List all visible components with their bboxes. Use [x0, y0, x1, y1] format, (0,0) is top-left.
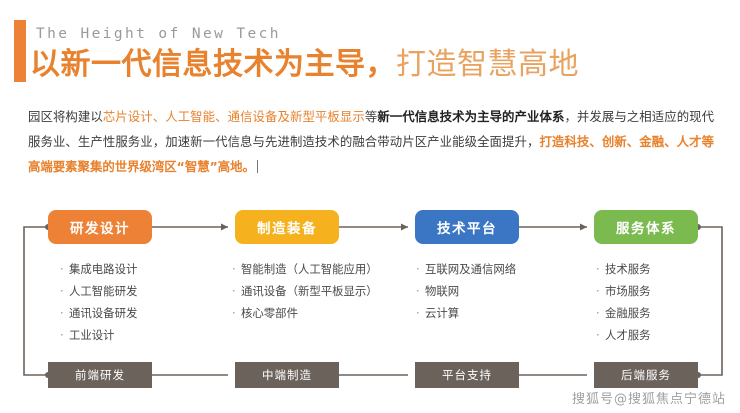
bullet-dot-icon: · — [416, 258, 425, 280]
list-item-label: 工业设计 — [69, 328, 115, 342]
list-item: ·物联网 — [416, 280, 591, 302]
slide-canvas: The Height of New Tech 以新一代信息技术为主导，打造智慧高… — [0, 0, 740, 413]
list-item-label: 互联网及通信网络 — [425, 262, 516, 276]
bullet-dot-icon: · — [416, 302, 425, 324]
connector-left-wrap — [24, 227, 48, 375]
list-item-label: 人才服务 — [605, 328, 651, 342]
list-item: ·通讯设备研发 — [60, 302, 230, 324]
stage-node-platform-support[interactable]: 平台支持 — [415, 362, 519, 388]
list-item: ·互联网及通信网络 — [416, 258, 591, 280]
bullet-list-research: ·集成电路设计 ·人工智能研发 ·通讯设备研发 ·工业设计 — [60, 258, 230, 346]
bullet-dot-icon: · — [60, 324, 69, 346]
list-item-label: 金融服务 — [605, 306, 651, 320]
bullet-dot-icon: · — [60, 302, 69, 324]
bullet-dot-icon: · — [232, 258, 241, 280]
bullet-dot-icon: · — [416, 280, 425, 302]
process-diagram: 研发设计 ·集成电路设计 ·人工智能研发 ·通讯设备研发 ·工业设计 前端研发 … — [0, 196, 740, 413]
text-caret — [257, 160, 258, 173]
list-item-label: 人工智能研发 — [69, 284, 137, 298]
bullet-dot-icon: · — [232, 302, 241, 324]
title-accent-bar — [14, 20, 26, 82]
list-item: ·云计算 — [416, 302, 591, 324]
bullet-dot-icon: · — [596, 324, 605, 346]
list-item-label: 市场服务 — [605, 284, 651, 298]
list-item-label: 智能制造（人工智能应用） — [241, 262, 378, 276]
list-item: ·核心零部件 — [232, 302, 422, 324]
list-item: ·工业设计 — [60, 324, 230, 346]
body-paragraph: 园区将构建以芯片设计、人工智能、通信设备及新型平板显示等新一代信息技术为主导的产… — [28, 104, 714, 179]
process-node-service-system[interactable]: 服务体系 — [594, 210, 698, 244]
list-item-label: 通讯设备（新型平板显示） — [241, 284, 378, 298]
arrowhead-top-2 — [401, 224, 408, 231]
watermark-text: 搜狐号@搜狐焦点宁德站 — [572, 388, 726, 407]
paragraph-segment-1: 园区将构建以 — [28, 109, 103, 124]
list-item: ·人工智能研发 — [60, 280, 230, 302]
bullet-dot-icon: · — [60, 258, 69, 280]
list-item: ·人才服务 — [596, 324, 726, 346]
page-title-secondary: 打造智慧高地 — [396, 47, 579, 82]
process-node-tech-platform[interactable]: 技术平台 — [415, 210, 519, 244]
list-item: ·技术服务 — [596, 258, 726, 280]
process-node-manufacturing[interactable]: 制造装备 — [235, 210, 339, 244]
stage-node-back-end-service[interactable]: 后端服务 — [594, 362, 698, 388]
paragraph-segment-4: 新一代信息技术为主导的产业体系 — [377, 109, 564, 124]
bullet-list-manufacturing: ·智能制造（人工智能应用） ·通讯设备（新型平板显示） ·核心零部件 — [232, 258, 422, 324]
list-item: ·集成电路设计 — [60, 258, 230, 280]
bullet-dot-icon: · — [596, 258, 605, 280]
process-node-research[interactable]: 研发设计 — [48, 210, 152, 244]
list-item-label: 物联网 — [425, 284, 459, 298]
list-item-label: 核心零部件 — [241, 306, 298, 320]
stage-node-mid-manufacturing[interactable]: 中端制造 — [235, 362, 339, 388]
page-title-primary: 以新一代信息技术为主导， — [30, 47, 396, 82]
bullet-dot-icon: · — [60, 280, 69, 302]
eyebrow-text: The Height of New Tech — [36, 26, 281, 42]
list-item-label: 通讯设备研发 — [69, 306, 137, 320]
list-item-label: 集成电路设计 — [69, 262, 137, 276]
bullet-dot-icon: · — [596, 302, 605, 324]
arrowhead-top-1 — [221, 224, 228, 231]
paragraph-segment-2: 芯片设计、人工智能、通信设备及新型平板显示 — [103, 109, 365, 124]
stage-node-front-end[interactable]: 前端研发 — [48, 362, 152, 388]
arrowhead-top-3 — [580, 224, 587, 231]
list-item: ·通讯设备（新型平板显示） — [232, 280, 422, 302]
bullet-list-service-system: ·技术服务 ·市场服务 ·金融服务 ·人才服务 — [596, 258, 726, 346]
bullet-list-tech-platform: ·互联网及通信网络 ·物联网 ·云计算 — [416, 258, 591, 324]
page-title: 以新一代信息技术为主导，打造智慧高地 — [30, 46, 579, 84]
list-item-label: 云计算 — [425, 306, 459, 320]
paragraph-segment-3: 等 — [365, 109, 377, 124]
bullet-dot-icon: · — [232, 280, 241, 302]
bullet-dot-icon: · — [596, 280, 605, 302]
list-item: ·金融服务 — [596, 302, 726, 324]
list-item-label: 技术服务 — [605, 262, 651, 276]
list-item: ·市场服务 — [596, 280, 726, 302]
list-item: ·智能制造（人工智能应用） — [232, 258, 422, 280]
